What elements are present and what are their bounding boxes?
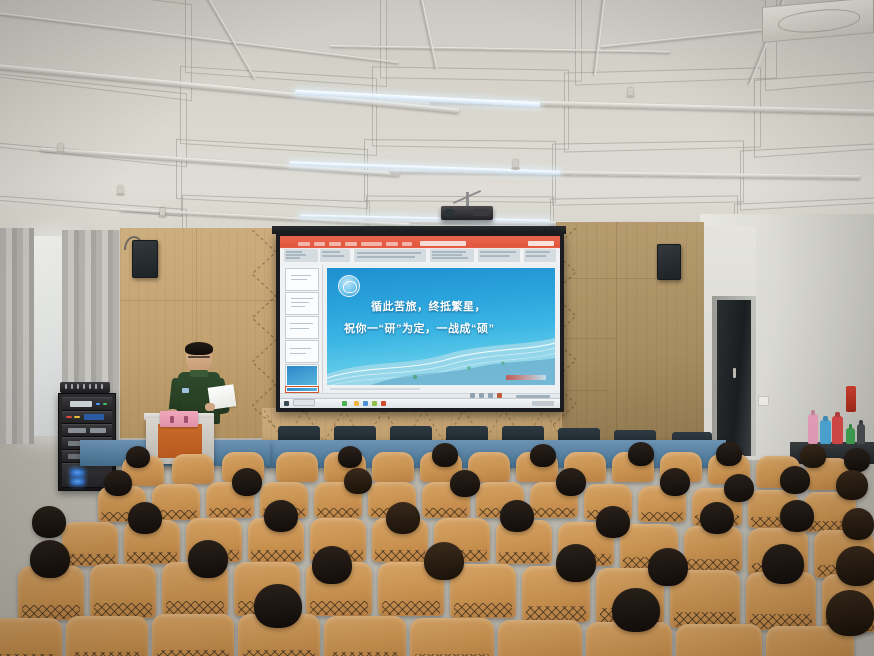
audience-head — [424, 542, 464, 580]
audience-head — [842, 508, 874, 540]
taskbar-app-browser[interactable] — [363, 401, 368, 406]
ceiling — [0, 0, 874, 250]
presenter-hand — [205, 403, 215, 411]
slide-footer-mark — [506, 375, 546, 380]
audience-head — [30, 540, 70, 578]
start-button[interactable] — [284, 401, 289, 406]
audience-head — [836, 470, 868, 500]
audience-head — [264, 500, 298, 532]
university-emblem — [338, 275, 360, 297]
side-door[interactable] — [717, 300, 751, 456]
audience-head — [628, 442, 654, 466]
audience-head — [188, 540, 228, 578]
taskbar-app-powerpoint[interactable] — [381, 401, 386, 406]
lectern-front-panel — [158, 424, 202, 458]
auditorium-seat — [498, 620, 582, 656]
audience-head — [762, 544, 804, 584]
audience-head — [432, 443, 458, 467]
audience-head — [386, 502, 420, 534]
ppt-tab-transitions[interactable] — [361, 242, 382, 246]
slide-thumbnail[interactable] — [285, 316, 319, 339]
audience-head — [312, 546, 352, 584]
ppt-tab-home[interactable] — [314, 242, 325, 246]
audience-head — [254, 584, 302, 628]
slide-thumbnail[interactable] — [285, 340, 319, 363]
lecture-hall-photo: 循此苦旅，终抵繁星， 祝你一“研”为定，一战成“硕” — [0, 0, 874, 656]
ppt-search-box[interactable] — [420, 241, 466, 246]
ppt-tab-insert[interactable] — [329, 242, 341, 246]
audience-head — [450, 470, 480, 497]
audience-head — [660, 468, 690, 496]
audience-head — [844, 448, 870, 472]
lectern-sign — [160, 411, 198, 427]
audience-head — [800, 444, 826, 468]
slide-thumbnail[interactable] — [285, 364, 319, 387]
auditorium-seat — [172, 454, 214, 484]
amplifier-display — [71, 469, 84, 476]
auditorium-seat — [410, 618, 494, 656]
auditorium-seat — [276, 452, 318, 482]
audience-head — [530, 444, 556, 467]
sprinkler-head — [160, 208, 165, 217]
water-bottle — [808, 414, 818, 444]
presenter-collar — [190, 370, 208, 377]
ppt-account-label[interactable] — [528, 241, 554, 246]
wood-wall-right — [556, 222, 704, 442]
audience-head — [596, 506, 630, 538]
auditorium-seat — [90, 564, 156, 618]
slide-thumbnail[interactable] — [285, 292, 319, 315]
auditorium-seat — [152, 614, 234, 656]
ppt-tab-file[interactable] — [298, 242, 310, 246]
water-bottle — [832, 416, 843, 444]
taskbar-app-explorer[interactable] — [354, 401, 359, 406]
audience-head — [836, 546, 874, 586]
audience-head — [556, 544, 596, 582]
auditorium-seat — [0, 618, 62, 656]
windows-taskbar[interactable] — [280, 398, 560, 408]
ppt-tab-design[interactable] — [345, 242, 357, 246]
amplifier-display — [71, 478, 84, 485]
auditorium-seat — [324, 616, 406, 656]
projector-lens — [444, 209, 455, 217]
tray-clock[interactable] — [532, 401, 554, 406]
audience-head — [344, 468, 372, 494]
audience-head — [32, 506, 66, 538]
ppt-tab-animations[interactable] — [386, 242, 398, 246]
audience-head — [500, 500, 534, 532]
audio-mixer[interactable] — [60, 382, 110, 393]
taskbar-app-media[interactable] — [372, 401, 377, 406]
water-bottle — [820, 420, 831, 444]
audience-head — [648, 548, 688, 586]
sprinkler-head — [628, 88, 633, 97]
audience-head — [338, 446, 362, 468]
wall-speaker-right — [657, 244, 681, 280]
slide-line-1: 循此苦旅，终抵繁星， — [371, 298, 486, 314]
audience-head — [232, 468, 262, 496]
taskbar-search[interactable] — [293, 399, 315, 406]
audience-head — [780, 466, 810, 494]
fire-extinguisher — [846, 386, 856, 412]
audience-head — [126, 446, 150, 468]
audience-head — [716, 442, 742, 466]
taskbar-app-wechat[interactable] — [342, 401, 347, 406]
wall-speaker-left — [132, 240, 158, 278]
audience-head — [826, 590, 874, 636]
current-slide: 循此苦旅，终抵繁星， 祝你一“研”为定，一战成“硕” — [327, 268, 555, 385]
audience-head — [104, 470, 132, 496]
audience-head — [724, 474, 754, 502]
sprinkler-head — [513, 160, 518, 169]
light-switch[interactable] — [758, 396, 769, 406]
audience-head — [612, 588, 660, 632]
water-bottle — [846, 428, 855, 444]
audience-head — [128, 502, 162, 534]
presenter-badge — [182, 388, 189, 393]
auditorium-seat — [66, 616, 148, 656]
slide-thumbnail-selected[interactable] — [285, 386, 319, 393]
door-handle[interactable] — [733, 368, 736, 378]
audience-head — [700, 502, 734, 534]
window-curtain — [0, 228, 34, 444]
audience-head — [780, 500, 814, 532]
projected-desktop: 循此苦旅，终抵繁星， 祝你一“研”为定，一战成“硕” — [280, 236, 560, 408]
slide-thumbnail[interactable] — [285, 268, 319, 291]
audience-head — [556, 468, 586, 496]
auditorium-seat — [676, 624, 762, 656]
presenter-hair — [185, 342, 213, 355]
sprinkler-head — [118, 186, 123, 195]
auditorium-seat — [372, 452, 414, 482]
auditorium-seat — [62, 522, 118, 566]
wood-zigzag-pattern — [252, 230, 278, 438]
ppt-tab-view[interactable] — [402, 242, 412, 246]
presenter-glasses — [188, 356, 210, 358]
sprinkler-head — [58, 144, 63, 153]
projector-vent — [473, 209, 489, 216]
thermos-flask — [857, 424, 865, 444]
